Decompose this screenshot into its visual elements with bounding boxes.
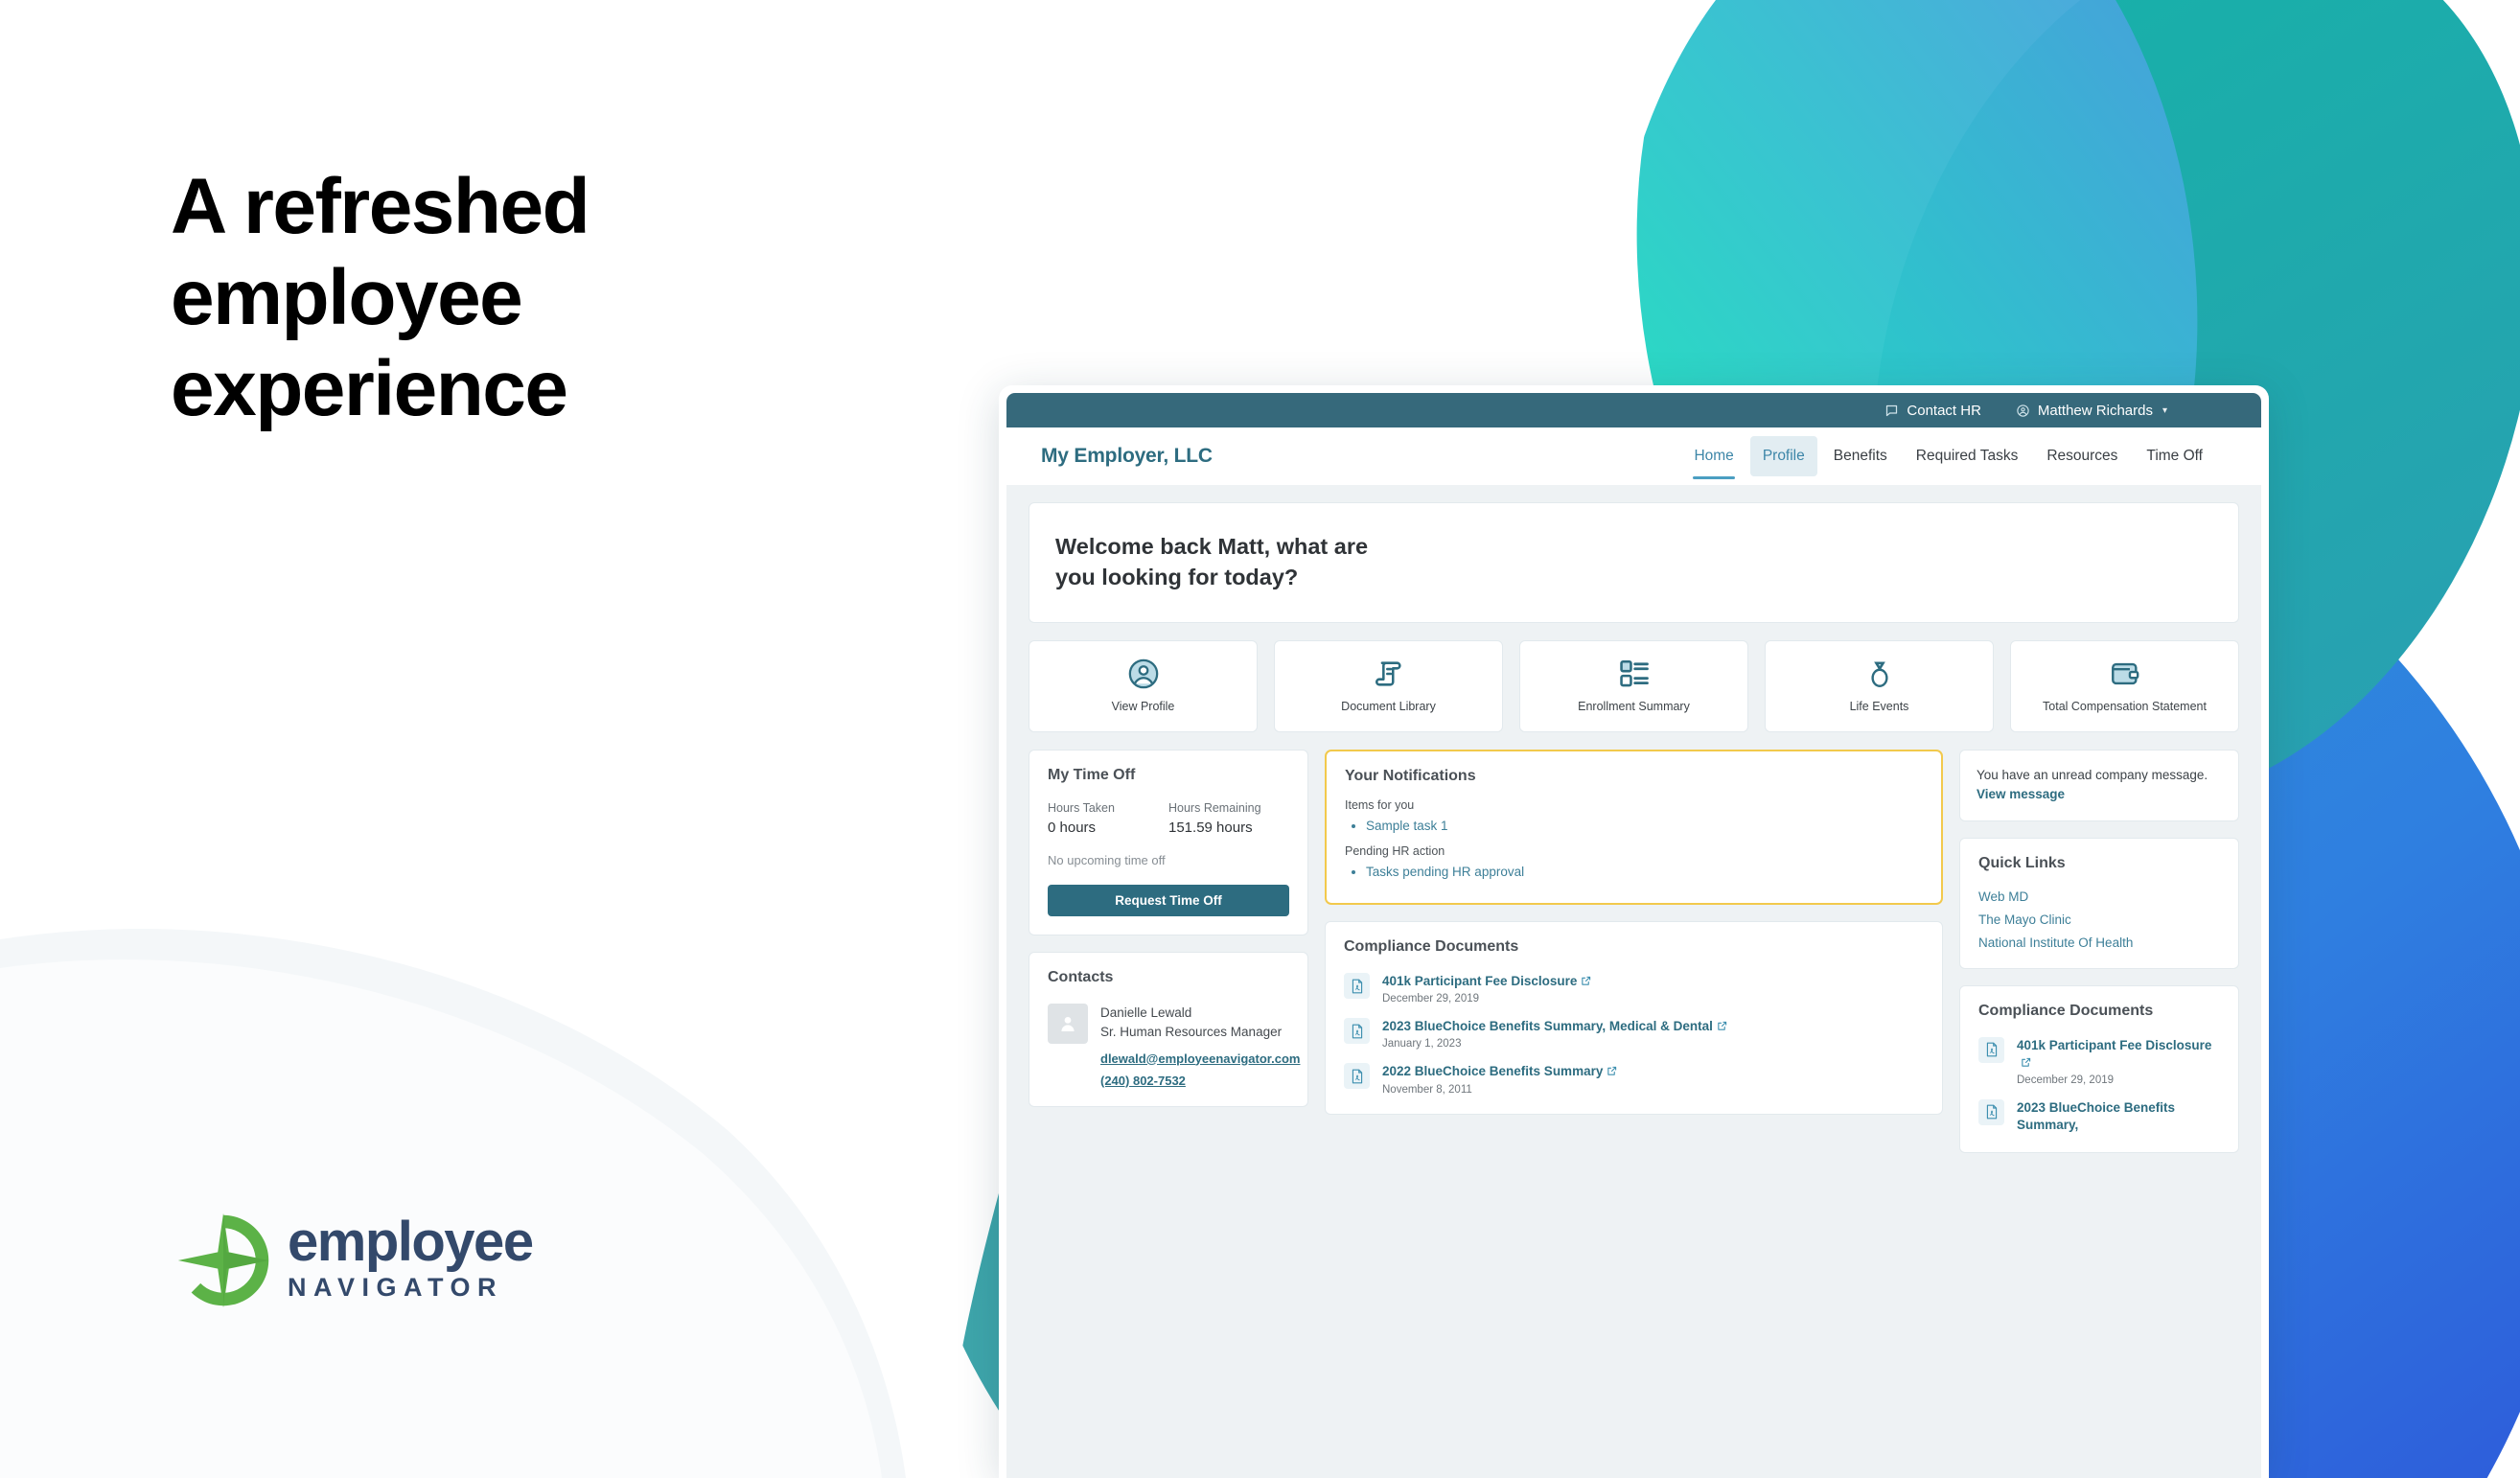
welcome-heading: Welcome back Matt, what are you looking … xyxy=(1055,532,1372,593)
hours-taken-stat: Hours Taken 0 hours xyxy=(1048,801,1168,836)
pdf-glyph-icon xyxy=(1351,1024,1364,1039)
contact-phone-link[interactable]: (240) 802-7532 xyxy=(1100,1074,1300,1088)
quick-link-nih[interactable]: National Institute Of Health xyxy=(1978,935,2220,950)
pdf-glyph-icon xyxy=(1985,1104,1999,1120)
document-title[interactable]: 2023 BlueChoice Benefits Summary, Medica… xyxy=(1382,1018,1727,1035)
card-title: Contacts xyxy=(1048,969,1289,986)
document-row[interactable]: 2023 BlueChoice Benefits Summary, Medica… xyxy=(1344,1018,1924,1050)
notifications-group-2-label: Pending HR action xyxy=(1345,844,1923,858)
contact-hr-label: Contact HR xyxy=(1907,403,1981,419)
scroll-document-icon xyxy=(1373,658,1405,690)
document-title-text: 2023 BlueChoice Benefits Summary, Medica… xyxy=(1382,1019,1713,1033)
card-title: Compliance Documents xyxy=(1978,1003,2220,1020)
employer-brand-name: My Employer, LLC xyxy=(1041,427,1213,485)
headline-line-2: employee xyxy=(171,252,784,343)
notifications-group-2-list: Tasks pending HR approval xyxy=(1366,864,1923,881)
nav-item-resources[interactable]: Resources xyxy=(2034,427,2130,485)
document-title[interactable]: 401k Participant Fee Disclosure xyxy=(2017,1037,2220,1072)
pdf-file-icon xyxy=(1344,1063,1370,1089)
request-time-off-button[interactable]: Request Time Off xyxy=(1048,885,1289,916)
quick-links-card: Quick Links Web MD The Mayo Clinic Natio… xyxy=(1959,838,2239,969)
document-date: January 1, 2023 xyxy=(1382,1038,1727,1050)
notifications-group-1-label: Items for you xyxy=(1345,798,1923,812)
contact-hr-button[interactable]: Contact HR xyxy=(1884,403,1981,419)
nav-item-required-tasks[interactable]: Required Tasks xyxy=(1904,427,2031,485)
document-title[interactable]: 2023 BlueChoice Benefits Summary, xyxy=(2017,1099,2220,1134)
tile-document-library[interactable]: Document Library xyxy=(1274,640,1503,732)
quick-actions: View Profile Document Library Enrollment… xyxy=(1029,640,2239,732)
external-link-icon xyxy=(1607,1066,1617,1076)
chat-bubble-icon xyxy=(1884,404,1899,418)
user-menu-button[interactable]: Matthew Richards ▾ xyxy=(2016,403,2167,419)
document-row[interactable]: 401k Participant Fee Disclosure December… xyxy=(1344,973,1924,1005)
list-checklist-icon xyxy=(1618,658,1651,690)
contact-name: Danielle Lewald xyxy=(1100,1004,1300,1023)
unread-message-text: You have an unread company message. xyxy=(1977,768,2208,782)
tile-label: Total Compensation Statement xyxy=(2043,700,2207,715)
pdf-glyph-icon xyxy=(1351,1069,1364,1084)
external-link-icon xyxy=(1581,976,1591,986)
tile-view-profile[interactable]: View Profile xyxy=(1029,640,1258,732)
tile-enrollment-summary[interactable]: Enrollment Summary xyxy=(1519,640,1748,732)
tile-label: Document Library xyxy=(1341,700,1436,715)
pdf-file-icon xyxy=(1978,1099,2004,1125)
welcome-banner: Welcome back Matt, what are you looking … xyxy=(1029,502,2239,623)
tile-label: Enrollment Summary xyxy=(1578,700,1690,715)
headline-line-3: experience xyxy=(171,343,784,434)
user-circle-icon xyxy=(1127,658,1160,690)
document-row[interactable]: 401k Participant Fee Disclosure December… xyxy=(1978,1037,2220,1086)
no-upcoming-time-off-text: No upcoming time off xyxy=(1048,853,1289,867)
wallet-icon xyxy=(2109,658,2141,690)
document-date: December 29, 2019 xyxy=(1382,993,1591,1005)
logo-wordmark-employee: employee xyxy=(288,1215,533,1268)
nav-item-benefits[interactable]: Benefits xyxy=(1821,427,1900,485)
hero-headline: A refreshed employee experience xyxy=(171,161,784,434)
document-title[interactable]: 2022 BlueChoice Benefits Summary xyxy=(1382,1063,1617,1080)
pdf-file-icon xyxy=(1978,1037,2004,1063)
notification-link[interactable]: Sample task 1 xyxy=(1366,819,1448,833)
document-row[interactable]: 2022 BlueChoice Benefits Summary Novembe… xyxy=(1344,1063,1924,1095)
compliance-documents-card: Compliance Documents 401k Participant Fe… xyxy=(1325,921,1943,1115)
hours-taken-value: 0 hours xyxy=(1048,820,1168,836)
document-date: November 8, 2011 xyxy=(1382,1084,1617,1096)
headline-line-1: A refreshed xyxy=(171,161,784,252)
person-glyph-icon xyxy=(1056,1012,1079,1035)
middle-column: Your Notifications Items for you Sample … xyxy=(1325,750,1943,1115)
document-title[interactable]: 401k Participant Fee Disclosure xyxy=(1382,973,1591,990)
pdf-glyph-icon xyxy=(1351,979,1364,994)
list-item[interactable]: Sample task 1 xyxy=(1366,818,1923,835)
pdf-glyph-icon xyxy=(1985,1042,1999,1057)
dashboard-grid: My Time Off Hours Taken 0 hours Hours Re… xyxy=(1029,750,2239,1153)
employee-navigator-logo: employee NAVIGATOR xyxy=(173,1210,533,1311)
quick-link-mayo-clinic[interactable]: The Mayo Clinic xyxy=(1978,912,2220,927)
nav-item-profile[interactable]: Profile xyxy=(1750,436,1817,476)
card-title: My Time Off xyxy=(1048,767,1289,784)
left-column: My Time Off Hours Taken 0 hours Hours Re… xyxy=(1029,750,1308,1107)
pdf-file-icon xyxy=(1344,1018,1370,1044)
document-row[interactable]: 2023 BlueChoice Benefits Summary, xyxy=(1978,1099,2220,1134)
person-placeholder-icon xyxy=(1048,1004,1088,1044)
page-body: Welcome back Matt, what are you looking … xyxy=(1006,485,2261,1478)
compass-logo-icon xyxy=(173,1210,274,1311)
hours-remaining-label: Hours Remaining xyxy=(1168,801,1289,815)
document-title-text: 401k Participant Fee Disclosure xyxy=(1382,974,1577,988)
document-date: December 29, 2019 xyxy=(2017,1074,2220,1086)
app-window-mockup: Contact HR Matthew Richards ▾ My Employe… xyxy=(999,385,2269,1478)
notifications-card: Your Notifications Items for you Sample … xyxy=(1325,750,1943,905)
my-time-off-card: My Time Off Hours Taken 0 hours Hours Re… xyxy=(1029,750,1308,935)
unread-message-card: You have an unread company message. View… xyxy=(1959,750,2239,821)
nav-item-time-off[interactable]: Time Off xyxy=(2134,427,2215,485)
document-title-text: 2022 BlueChoice Benefits Summary xyxy=(1382,1064,1603,1078)
card-title: Compliance Documents xyxy=(1344,938,1924,956)
notification-link[interactable]: Tasks pending HR approval xyxy=(1366,865,1524,879)
utility-bar: Contact HR Matthew Richards ▾ xyxy=(1006,393,2261,427)
user-name-label: Matthew Richards xyxy=(2038,403,2153,419)
tile-label: Life Events xyxy=(1850,700,1909,715)
card-title: Quick Links xyxy=(1978,855,2220,872)
notifications-group-1-list: Sample task 1 xyxy=(1366,818,1923,835)
compliance-documents-rail-card: Compliance Documents 401k Participant Fe… xyxy=(1959,985,2239,1154)
contacts-card: Contacts Danielle Lewald Sr. Human Resou… xyxy=(1029,952,1308,1107)
hours-remaining-stat: Hours Remaining 151.59 hours xyxy=(1168,801,1289,836)
primary-nav: Home Profile Benefits Required Tasks Res… xyxy=(1681,427,2215,485)
card-title: Your Notifications xyxy=(1345,768,1923,785)
app-header: My Employer, LLC Home Profile Benefits R… xyxy=(1006,427,2261,485)
list-item[interactable]: Tasks pending HR approval xyxy=(1366,864,1923,881)
hours-taken-label: Hours Taken xyxy=(1048,801,1168,815)
right-column: You have an unread company message. View… xyxy=(1959,750,2239,1153)
quick-link-web-md[interactable]: Web MD xyxy=(1978,889,2220,904)
tile-total-compensation-statement[interactable]: Total Compensation Statement xyxy=(2010,640,2239,732)
pdf-file-icon xyxy=(1344,973,1370,999)
external-link-icon xyxy=(1717,1021,1727,1031)
logo-wordmark-navigator: NAVIGATOR xyxy=(288,1270,533,1305)
contact-email-link[interactable]: dlewald@employeenavigator.com xyxy=(1100,1051,1300,1066)
ring-icon xyxy=(1863,658,1896,690)
user-circle-icon xyxy=(2016,404,2030,418)
tile-life-events[interactable]: Life Events xyxy=(1765,640,1994,732)
external-link-icon xyxy=(2021,1057,2031,1068)
hours-remaining-value: 151.59 hours xyxy=(1168,820,1289,836)
nav-item-home[interactable]: Home xyxy=(1681,427,1746,485)
chevron-down-icon: ▾ xyxy=(2162,405,2167,416)
tile-label: View Profile xyxy=(1112,700,1175,715)
view-message-link[interactable]: View message xyxy=(1977,787,2065,801)
document-title-text: 401k Participant Fee Disclosure xyxy=(2017,1038,2211,1052)
contact-role: Sr. Human Resources Manager xyxy=(1100,1023,1300,1042)
